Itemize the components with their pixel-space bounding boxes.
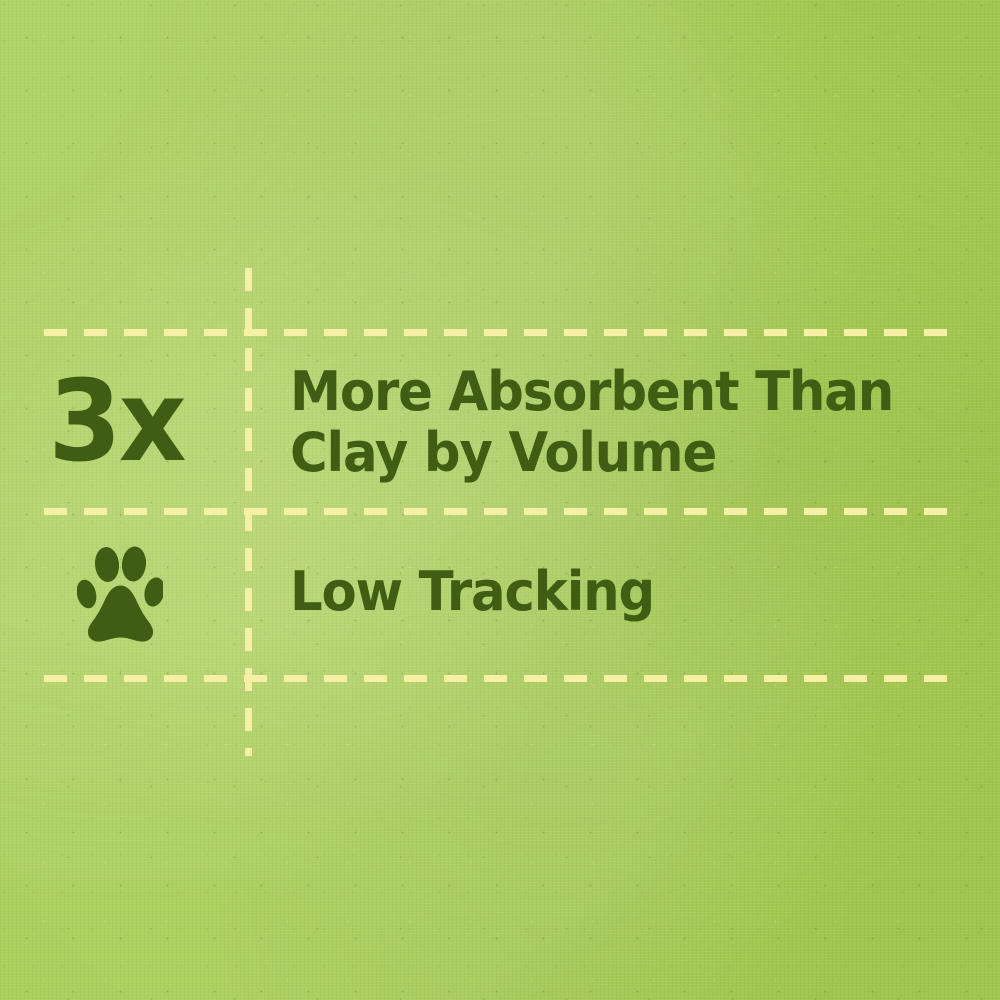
divider-bottom-dashed-rule — [44, 675, 950, 682]
feature-badge-absorbency: 3x — [0, 366, 245, 478]
feature-text-absorbency: More Absorbent Than Clay by Volume — [290, 361, 965, 483]
feature-badge-low-tracking — [0, 538, 245, 646]
feature-row-low-tracking: Low Tracking — [0, 508, 1000, 675]
product-benefits-infographic: 3x More Absorbent Than Clay by Volume — [0, 0, 1000, 1000]
divider-top-dashed-rule — [44, 329, 950, 336]
stat-multiplier-label: 3x — [49, 366, 185, 478]
feature-text-low-tracking-wrap: Low Tracking — [245, 561, 1000, 622]
feature-row-absorbency: 3x More Absorbent Than Clay by Volume — [0, 336, 1000, 508]
paw-print-icon — [77, 538, 163, 646]
feature-text-low-tracking: Low Tracking — [290, 561, 965, 622]
feature-text-absorbency-wrap: More Absorbent Than Clay by Volume — [245, 361, 1000, 483]
